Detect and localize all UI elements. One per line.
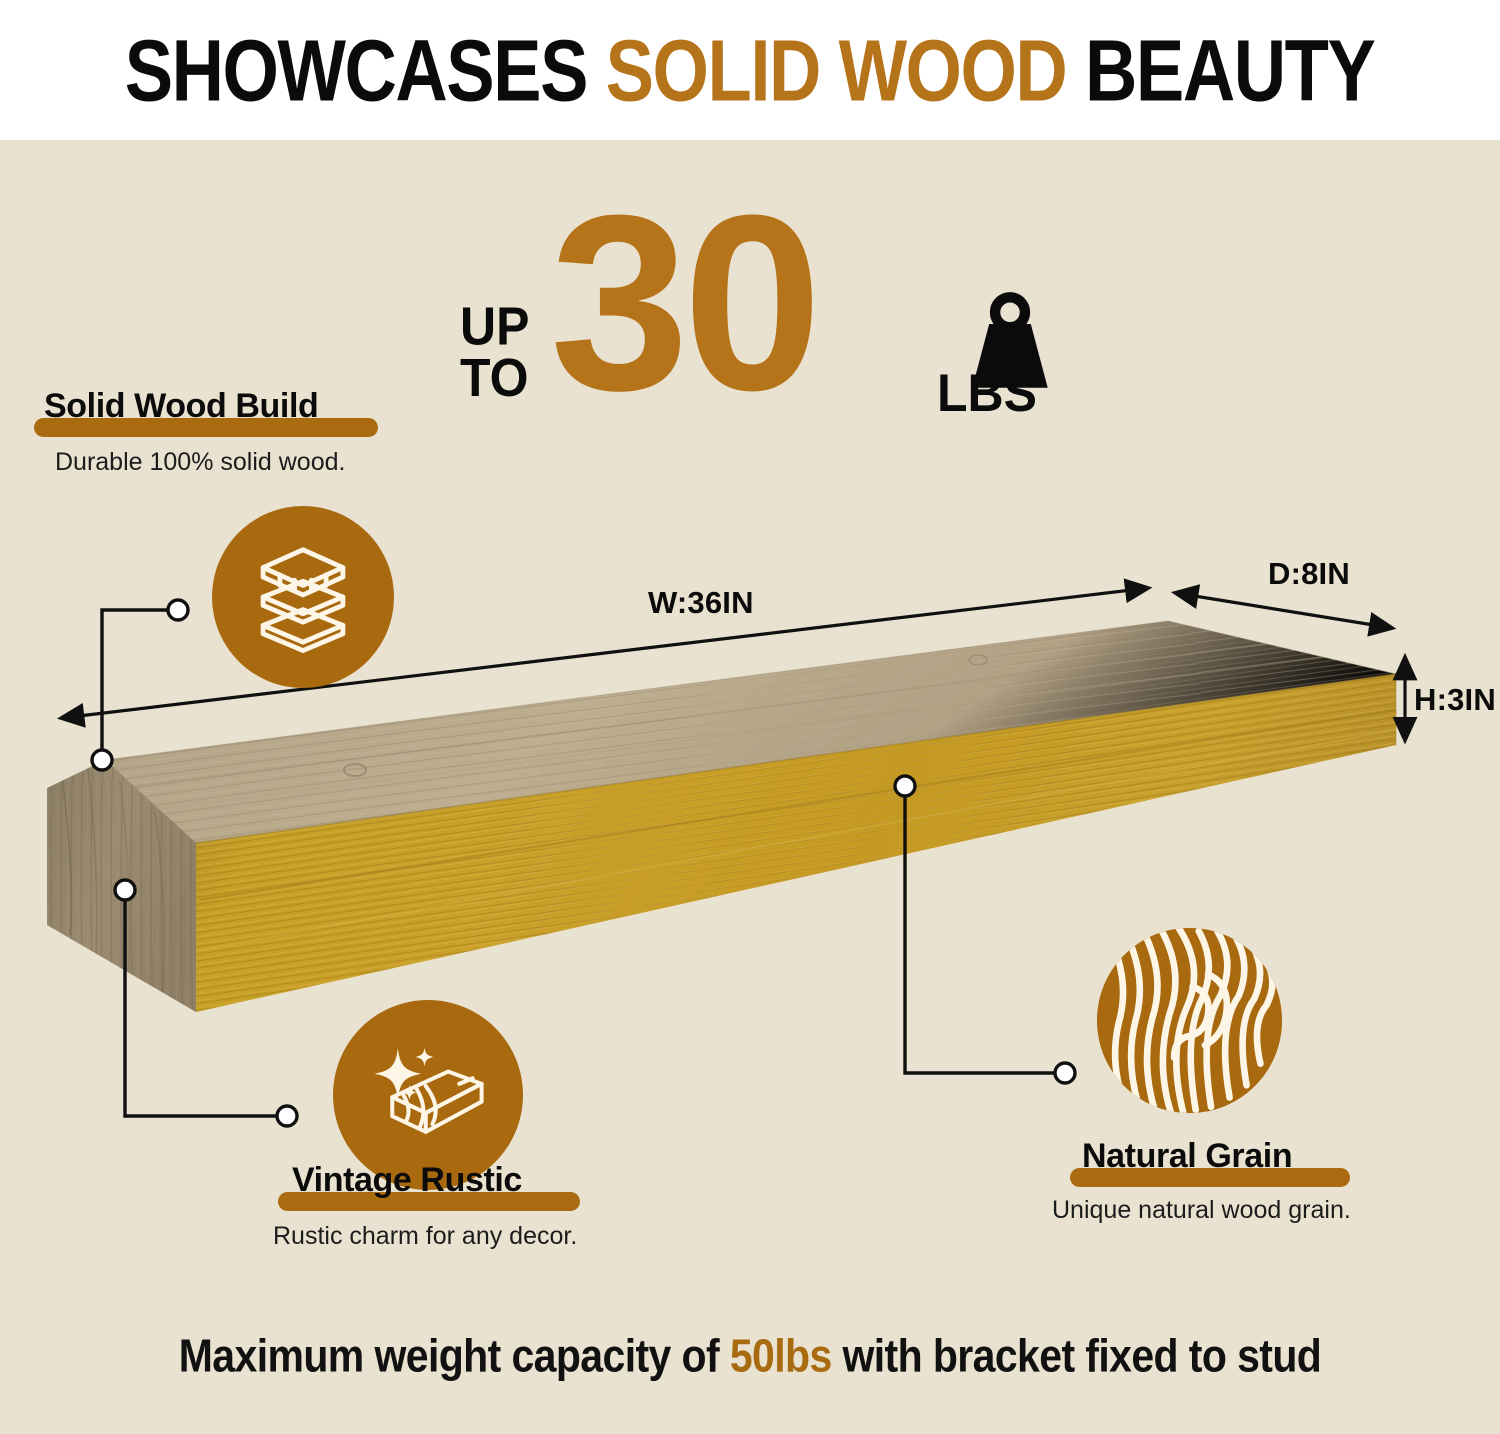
natural-grain-subtitle: Unique natural wood grain. — [1052, 1196, 1351, 1225]
weight-capacity-hero: UP TO 30 LBS — [455, 190, 1075, 420]
vintage-rustic-title: Vintage Rustic — [292, 1161, 522, 1200]
lbs-label: LBS — [937, 362, 1037, 423]
caption-highlight: 50lbs — [730, 1330, 832, 1382]
solid-wood-build-subtitle: Durable 100% solid wood. — [55, 448, 345, 477]
stacked-planks-icon — [212, 506, 394, 688]
up-to-label: UP TO — [460, 300, 529, 404]
bottom-caption: Maximum weight capacity of 50lbs with br… — [0, 1330, 1500, 1383]
wood-grain-icon — [1097, 928, 1282, 1113]
header-text-after: BEAUTY — [1067, 21, 1375, 119]
page-title: SHOWCASES SOLID WOOD BEAUTY — [125, 20, 1375, 120]
infographic-root: SHOWCASES SOLID WOOD BEAUTY UP TO 30 LBS — [0, 0, 1500, 1434]
header-band: SHOWCASES SOLID WOOD BEAUTY — [0, 0, 1500, 140]
up-label: UP — [460, 300, 529, 352]
dimension-width-label: W:36IN — [648, 585, 754, 621]
solid-wood-build-title: Solid Wood Build — [44, 387, 318, 426]
to-label: TO — [460, 352, 529, 404]
caption-text-after: with bracket fixed to stud — [832, 1330, 1322, 1382]
dimension-height-label: H:3IN — [1414, 682, 1496, 718]
dimension-depth-label: D:8IN — [1268, 556, 1350, 592]
natural-grain-title: Natural Grain — [1082, 1137, 1292, 1176]
header-text-before: SHOWCASES — [125, 21, 606, 119]
caption-text-before: Maximum weight capacity of — [179, 1330, 730, 1382]
weight-number: 30 — [550, 178, 816, 428]
header-highlight: SOLID WOOD — [606, 21, 1067, 119]
vintage-rustic-subtitle: Rustic charm for any decor. — [273, 1222, 577, 1251]
